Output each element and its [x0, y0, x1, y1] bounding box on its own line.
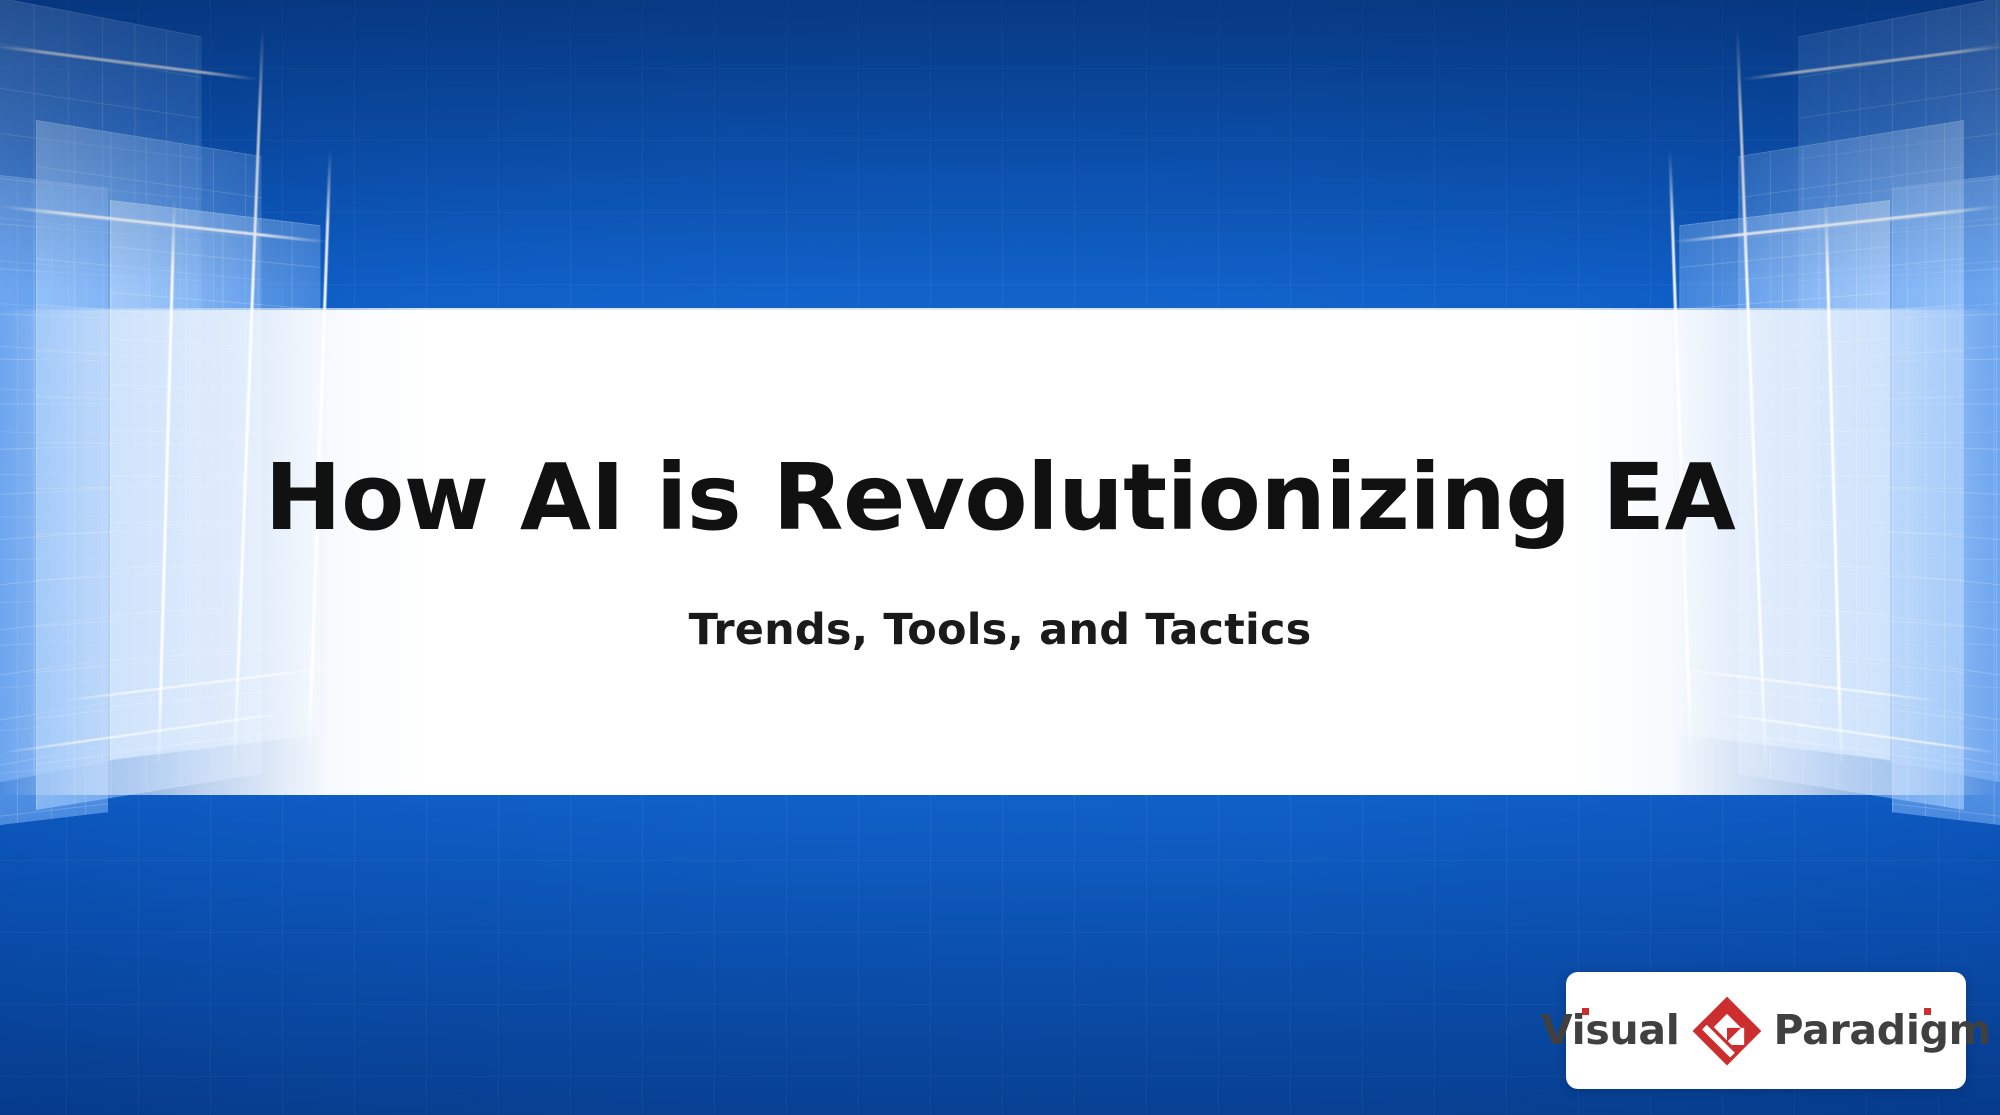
- logo-i-dot-accent: [1582, 1008, 1589, 1015]
- logo-text-visual: Visual: [1541, 1010, 1680, 1051]
- logo-i-dot-accent: [1924, 1008, 1931, 1015]
- logo-text-paradigm: Paradigm: [1774, 1010, 1992, 1051]
- page-title: How AI is Revolutionizing EA: [265, 450, 1736, 547]
- title-block: How AI is Revolutionizing EA Trends, Too…: [0, 310, 2000, 795]
- visual-paradigm-diamond-icon: [1688, 992, 1766, 1070]
- visual-paradigm-logo[interactable]: Visual Paradigm: [1566, 972, 1966, 1089]
- presentation-slide: How AI is Revolutionizing EA Trends, Too…: [0, 0, 2000, 1115]
- page-subtitle: Trends, Tools, and Tactics: [689, 605, 1312, 655]
